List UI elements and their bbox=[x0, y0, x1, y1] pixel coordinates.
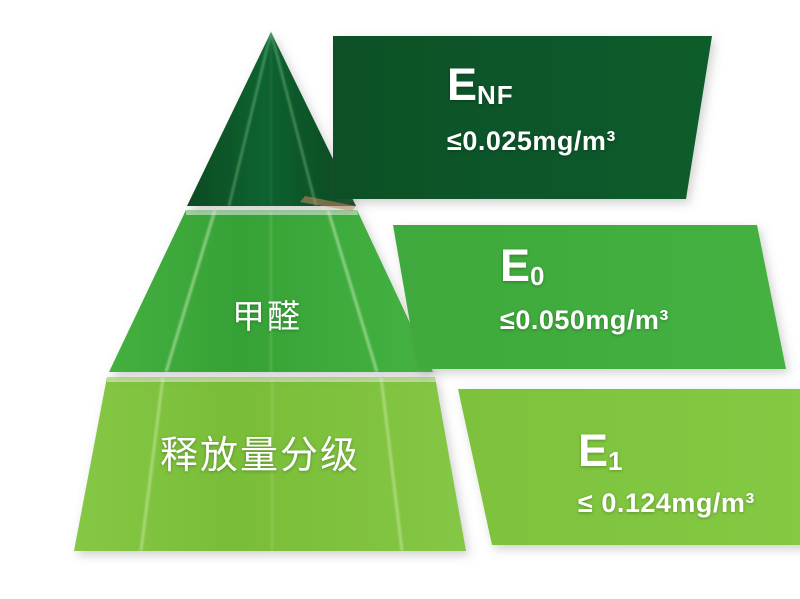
banner-e1-shape-group[interactable] bbox=[458, 389, 800, 545]
pyramid-middle-top-highlight bbox=[186, 210, 358, 215]
banner-e0-shape[interactable] bbox=[393, 225, 786, 369]
pyramid-tier-middle bbox=[109, 210, 433, 372]
banner-e1-shape[interactable] bbox=[458, 389, 800, 545]
banner-enf-shape-group[interactable] bbox=[333, 36, 712, 199]
pyramid-tier-apex bbox=[187, 32, 356, 211]
banner-enf-shape[interactable] bbox=[333, 36, 712, 199]
pyramid-tier-base bbox=[74, 377, 466, 551]
pyramid-tier-base-shape bbox=[74, 377, 466, 551]
pyramid-base-top-highlight bbox=[107, 377, 436, 382]
pyramid-diagram-canvas bbox=[0, 0, 800, 599]
banner-e0-shape-group[interactable] bbox=[393, 225, 786, 369]
formaldehyde-grade-pyramid-infographic: 甲醛 释放量分级 ENF ≤0.025mg/m³ E0 ≤0.050mg/m³ … bbox=[0, 0, 800, 599]
